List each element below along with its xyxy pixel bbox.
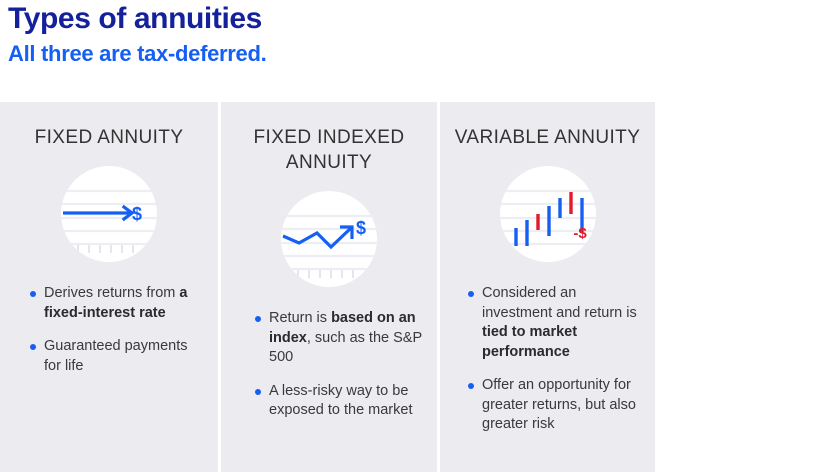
bullet-text-plain: A less-risky way to be exposed to the ma… bbox=[269, 383, 412, 419]
bullet-text-plain: Derives returns from bbox=[44, 285, 179, 301]
bullet-list: Derives returns from a fixed-interest ra… bbox=[0, 284, 218, 376]
column-heading: FIXED INDEXED ANNUITY bbox=[234, 125, 424, 175]
icon-container: $ bbox=[0, 166, 218, 262]
page-title: Types of annuities bbox=[8, 2, 708, 36]
annuity-column-fixed: FIXED ANNUITY bbox=[0, 102, 218, 472]
column-heading: VARIABLE ANNUITY bbox=[453, 125, 643, 150]
currency-symbol: $ bbox=[356, 218, 366, 238]
icon-container: -$ bbox=[440, 166, 655, 262]
candlestick-bars-negative-dollar-icon: -$ bbox=[500, 166, 596, 262]
list-item: Guaranteed payments for life bbox=[30, 337, 208, 376]
icon-container: $ bbox=[221, 191, 437, 287]
list-item: Derives returns from a fixed-interest ra… bbox=[30, 284, 208, 323]
annuity-column-variable: VARIABLE ANNUITY -$ Considered an inves bbox=[437, 102, 655, 472]
list-item: Offer an opportunity for greater returns… bbox=[468, 376, 647, 435]
bullet-text-bold: tied to market performance bbox=[482, 324, 577, 360]
list-item: Considered an investment and return is t… bbox=[468, 284, 647, 362]
bullet-text-plain: Considered an investment and return is bbox=[482, 285, 637, 321]
bullet-list: Considered an investment and return is t… bbox=[440, 284, 655, 435]
bullet-text-plain: Guaranteed payments for life bbox=[44, 338, 187, 374]
list-item: Return is based on an index, such as the… bbox=[255, 309, 429, 368]
bullet-text-plain: Offer an opportunity for greater returns… bbox=[482, 377, 636, 432]
currency-symbol: $ bbox=[132, 204, 142, 224]
bullet-text-plain: Return is bbox=[269, 310, 331, 326]
page-subtitle: All three are tax-deferred. bbox=[8, 41, 708, 67]
annuity-column-fixed-indexed: FIXED INDEXED ANNUITY bbox=[218, 102, 437, 472]
rising-zigzag-arrow-dollar-icon: $ bbox=[281, 191, 377, 287]
currency-symbol: -$ bbox=[573, 225, 587, 242]
bullet-list: Return is based on an index, such as the… bbox=[221, 309, 437, 421]
flat-arrow-dollar-icon: $ bbox=[61, 166, 157, 262]
list-item: A less-risky way to be exposed to the ma… bbox=[255, 382, 429, 421]
annuity-types-panel: FIXED ANNUITY bbox=[0, 102, 655, 472]
column-heading: FIXED ANNUITY bbox=[14, 125, 204, 150]
header: Types of annuities All three are tax-def… bbox=[8, 2, 708, 67]
